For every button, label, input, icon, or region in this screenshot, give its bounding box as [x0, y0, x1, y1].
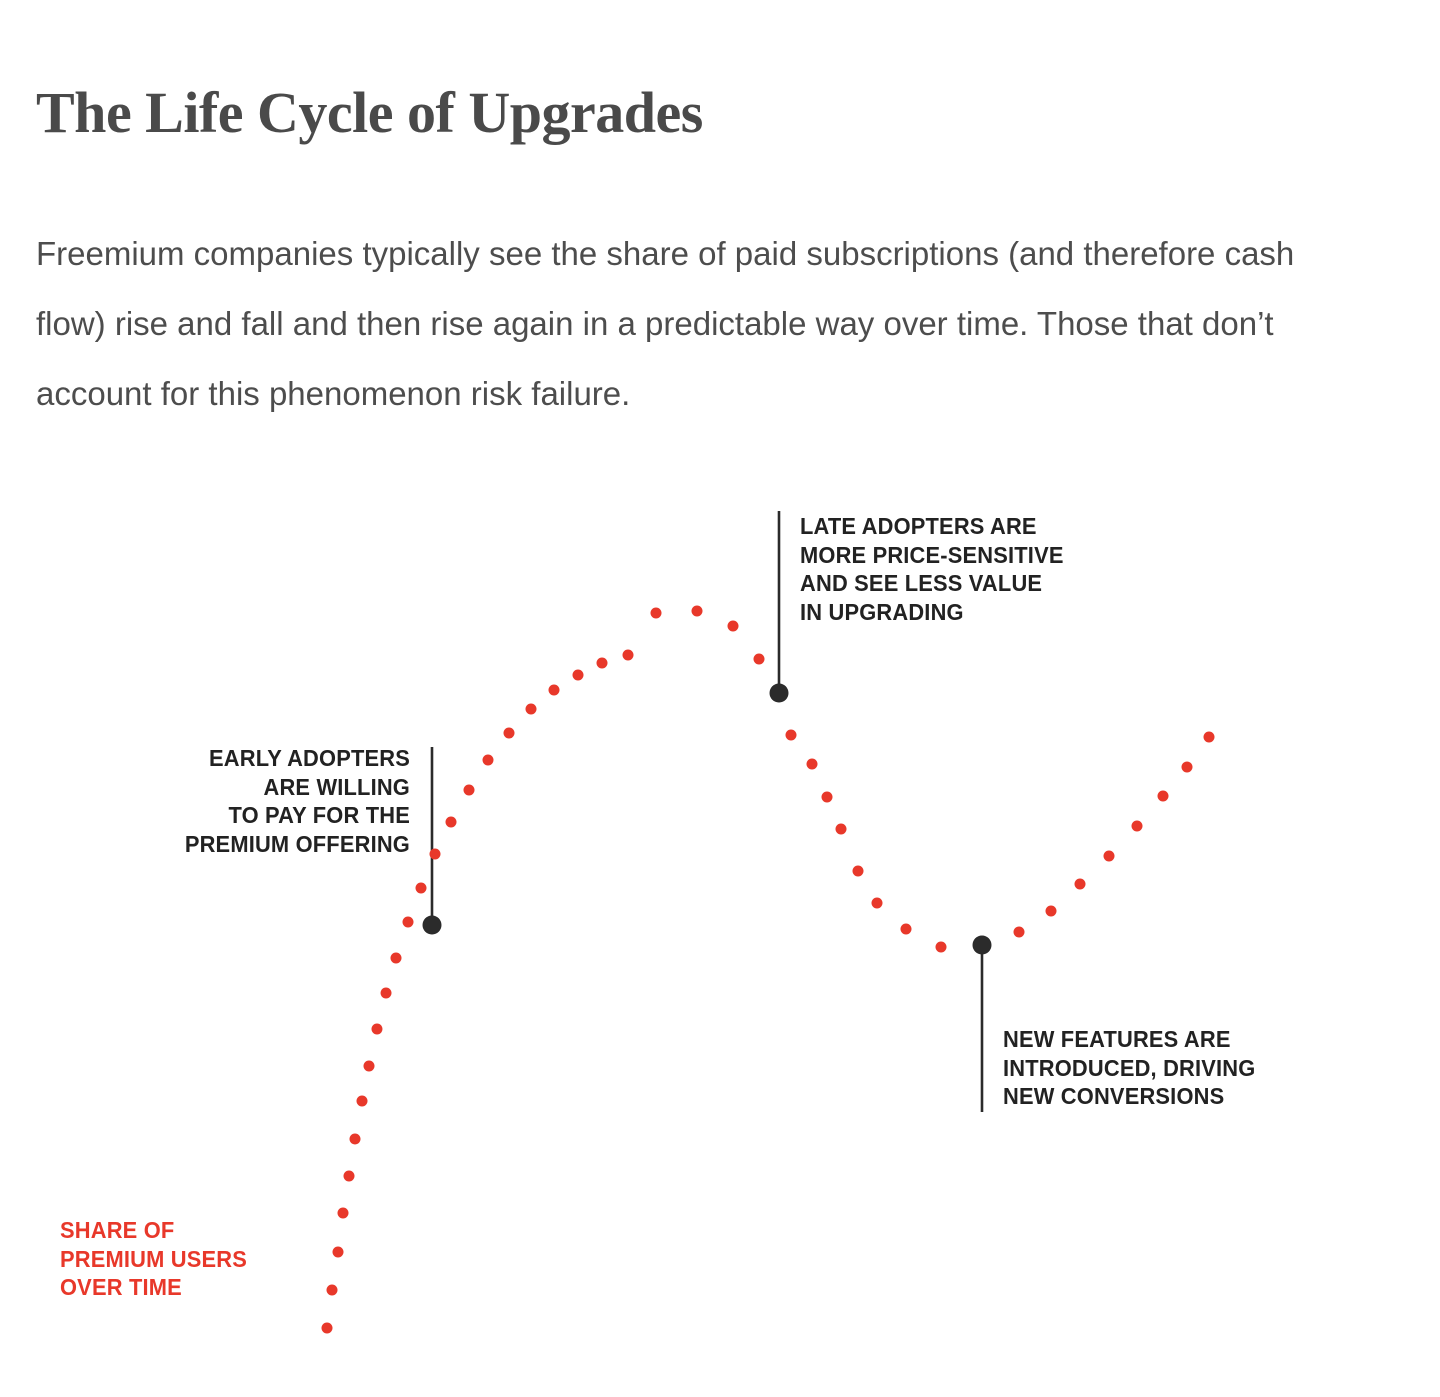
- data-point: [872, 898, 883, 909]
- data-point: [754, 654, 765, 665]
- annotation-early-adopters: EARLY ADOPTERS ARE WILLING TO PAY FOR TH…: [133, 744, 410, 858]
- data-point: [504, 728, 515, 739]
- data-point: [1104, 851, 1115, 862]
- premium-share-dot-series: [322, 606, 1215, 1334]
- data-point: [1014, 927, 1025, 938]
- data-point: [357, 1096, 368, 1107]
- data-point: [1132, 821, 1143, 832]
- data-point: [1204, 732, 1215, 743]
- data-point: [549, 685, 560, 696]
- data-point: [573, 670, 584, 681]
- series-legend-label: SHARE OF PREMIUM USERS OVER TIME: [60, 1216, 247, 1302]
- annotation-late-adopters: LATE ADOPTERS ARE MORE PRICE-SENSITIVE A…: [800, 512, 1191, 626]
- data-point: [333, 1247, 344, 1258]
- data-point: [446, 817, 457, 828]
- data-point: [651, 608, 662, 619]
- data-point: [623, 650, 634, 661]
- data-point: [403, 917, 414, 928]
- data-point: [728, 621, 739, 632]
- data-point: [1182, 762, 1193, 773]
- data-point: [936, 942, 947, 953]
- data-point: [786, 730, 797, 741]
- annotation-marker-dot: [770, 684, 789, 703]
- data-point: [1158, 791, 1169, 802]
- data-point: [483, 755, 494, 766]
- data-point: [381, 988, 392, 999]
- data-point: [344, 1171, 355, 1182]
- data-point: [350, 1134, 361, 1145]
- chart-svg: [0, 0, 1440, 1397]
- life-cycle-chart: EARLY ADOPTERS ARE WILLING TO PAY FOR TH…: [0, 0, 1440, 1397]
- data-point: [391, 953, 402, 964]
- data-point: [807, 759, 818, 770]
- data-point: [327, 1285, 338, 1296]
- data-point: [430, 849, 441, 860]
- data-point: [597, 658, 608, 669]
- data-point: [322, 1323, 333, 1334]
- annotation-marker-dot: [423, 916, 442, 935]
- annotation-markers: [423, 684, 992, 955]
- data-point: [1075, 879, 1086, 890]
- data-point: [822, 792, 833, 803]
- annotation-new-features: NEW FEATURES ARE INTRODUCED, DRIVING NEW…: [1003, 1025, 1375, 1111]
- data-point: [372, 1024, 383, 1035]
- data-point: [416, 883, 427, 894]
- data-point: [338, 1208, 349, 1219]
- data-point: [364, 1061, 375, 1072]
- annotation-marker-dot: [973, 936, 992, 955]
- data-point: [526, 704, 537, 715]
- data-point: [692, 606, 703, 617]
- data-point: [901, 924, 912, 935]
- data-point: [464, 785, 475, 796]
- data-point: [836, 824, 847, 835]
- data-point: [853, 866, 864, 877]
- data-point: [1046, 906, 1057, 917]
